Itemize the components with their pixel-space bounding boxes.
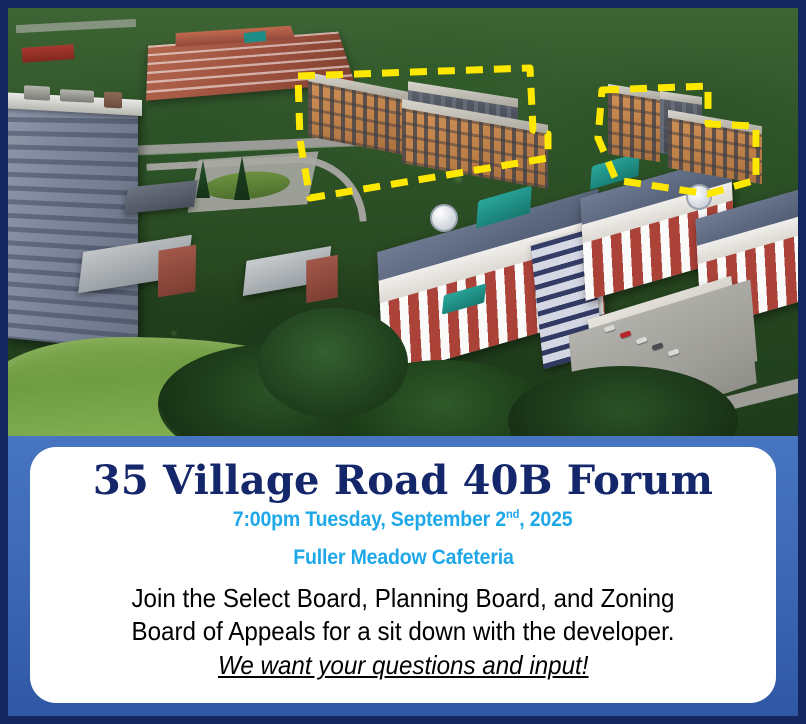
- forum-datetime-prefix: 7:00pm Tuesday, September 2: [233, 508, 506, 531]
- forum-title: 35 Village Road 40B Forum: [93, 459, 713, 504]
- aerial-photo: [8, 8, 798, 436]
- rooftop-mechanical-unit-2: [60, 89, 94, 103]
- aerial-photo-image: [8, 8, 798, 436]
- forum-datetime: 7:00pm Tuesday, September 2nd, 2025: [233, 508, 573, 532]
- rooftop-mechanical-unit-3: [104, 92, 122, 109]
- forum-body-line-1: Join the Select Board, Planning Board, a…: [131, 582, 674, 615]
- foreground-tree-cluster-midleft: [258, 308, 408, 418]
- small-brick-wing: [158, 245, 196, 298]
- forum-venue: Fuller Meadow Cafeteria: [293, 546, 513, 570]
- proposed-building-east-wing-1: [608, 84, 660, 162]
- forum-date-ordinal-suffix: nd: [506, 507, 519, 521]
- concrete-high-rise: [8, 103, 138, 350]
- forum-call-to-action: We want your questions and input!: [218, 650, 589, 681]
- forum-body: Join the Select Board, Planning Board, a…: [131, 582, 674, 649]
- apartment-round-turret-north: [686, 184, 712, 210]
- small-brick-wing-2: [306, 255, 338, 303]
- proposed-facade-east-1: [608, 92, 660, 162]
- forum-flyer: 35 Village Road 40B Forum 7:00pm Tuesday…: [0, 0, 806, 724]
- rooftop-mechanical-unit-1: [24, 85, 50, 100]
- forum-datetime-year: , 2025: [520, 508, 573, 531]
- apartment-round-turret-center: [430, 204, 458, 232]
- forum-body-line-2: Board of Appeals for a sit down with the…: [131, 615, 674, 648]
- info-panel: 35 Village Road 40B Forum 7:00pm Tuesday…: [8, 436, 798, 716]
- info-card: 35 Village Road 40B Forum 7:00pm Tuesday…: [30, 447, 776, 703]
